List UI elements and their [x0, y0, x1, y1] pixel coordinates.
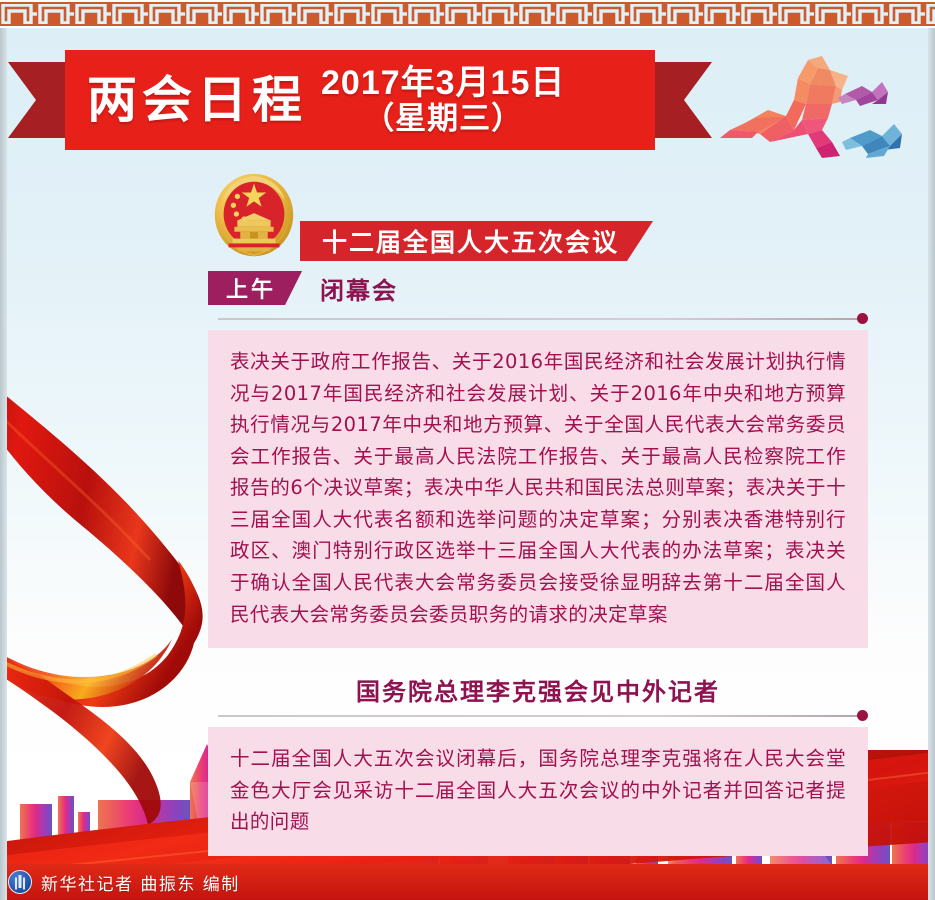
poster-date-line2: （星期三）	[363, 103, 523, 135]
xinhua-logo-icon	[8, 870, 32, 894]
time-tag-label: 上午	[226, 272, 276, 304]
sub-heading-premier-press: 国务院总理李克强会见中外记者	[208, 672, 868, 707]
slot-body-morning: 表决关于政府工作报告、关于2016年国民经济和社会发展计划执行情况与2017年国…	[208, 330, 868, 648]
slot-title-closing: 闭幕会	[320, 271, 398, 306]
page-edge-left	[0, 0, 7, 900]
divider-line	[218, 318, 858, 320]
divider-line	[218, 715, 858, 717]
session-banner-label: 十二届全国人大五次会议	[322, 223, 619, 259]
national-emblem-icon	[205, 168, 303, 266]
origami-birds-decoration	[690, 38, 935, 193]
origami-bird-blue-icon	[842, 124, 902, 158]
page-edge-right	[928, 0, 935, 900]
slot-body-premier-press: 十二届全国人大五次会议闭幕后，国务院总理李克强将在人民大会堂金色大厅会见采访十二…	[208, 727, 868, 856]
slot-header-morning: 上午 闭幕会	[208, 268, 868, 308]
session-banner: 十二届全国人大五次会议	[300, 221, 653, 261]
ribbon-tail-left	[8, 62, 70, 138]
infographic-poster: 两会日程 2017年3月15日 （星期三）	[0, 0, 935, 900]
divider-end-dot	[857, 710, 868, 721]
chinese-meander-border-icon	[0, 2, 935, 26]
poster-date: 2017年3月15日 （星期三）	[321, 66, 565, 134]
origami-bird-orange-icon	[720, 56, 848, 158]
divider-end-dot	[857, 313, 868, 324]
poster-date-line1: 2017年3月15日	[321, 66, 565, 101]
title-ribbon: 两会日程 2017年3月15日 （星期三）	[65, 50, 655, 150]
footer-credit-text: 新华社记者 曲振东 编制	[41, 870, 240, 895]
origami-bird-purple-icon	[838, 82, 888, 106]
footer-credit-bar: 新华社记者 曲振东 编制	[0, 864, 935, 900]
poster-title: 两会日程	[87, 75, 307, 125]
top-border-band	[0, 0, 935, 28]
time-tag-morning: 上午	[208, 271, 302, 305]
divider-rule-2	[218, 709, 868, 723]
divider-rule-1	[218, 312, 868, 326]
schedule-content: 上午 闭幕会 表决关于政府工作报告、关于2016年国民经济和社会发展计划执行情况…	[208, 268, 868, 856]
